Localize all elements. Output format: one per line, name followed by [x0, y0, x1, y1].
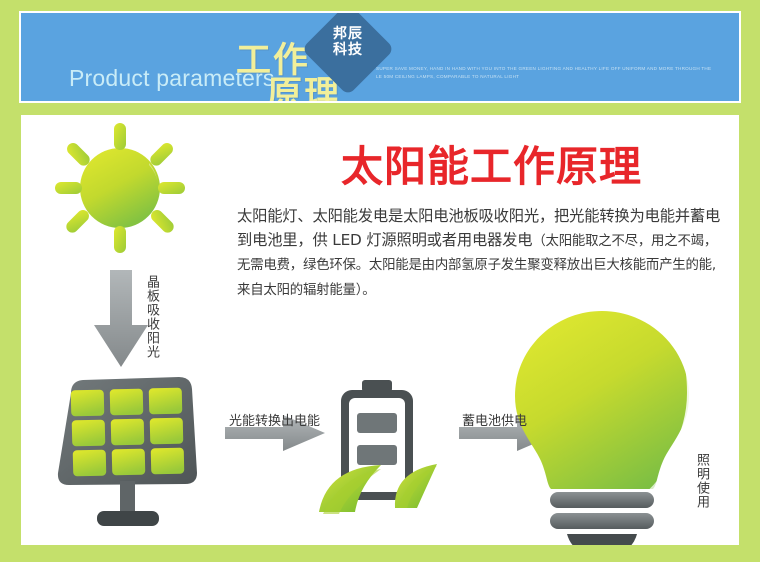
logo-text-line1: 邦辰: [318, 25, 378, 41]
solar-panel-icon: [58, 377, 197, 526]
header-tagline: SUPER SAVE MONEY, HAND IN HAND WITH YOU …: [376, 65, 716, 81]
light-bulb-icon: [515, 311, 696, 545]
arrow-down-icon: [94, 270, 148, 367]
header-blue-band: Product parameters 工作 原理 邦辰 科技 SUPER SAV…: [21, 13, 739, 101]
label-light-to-electric: 光能转换出电能: [229, 410, 320, 429]
main-content-card: 太阳能工作原理 太阳能灯、太阳能发电是太阳电池板吸收阳光，把光能转换为电能并蓄电…: [21, 115, 739, 545]
header-banner: Product parameters 工作 原理 邦辰 科技 SUPER SAV…: [16, 8, 744, 106]
sun-icon: [55, 123, 185, 253]
logo-text: 邦辰 科技: [318, 25, 378, 57]
page-root: Product parameters 工作 原理 邦辰 科技 SUPER SAV…: [0, 0, 760, 562]
description-paragraph: 太阳能灯、太阳能发电是太阳电池板吸收阳光，把光能转换为电能并蓄电到电池里，供 L…: [237, 205, 729, 302]
logo-text-line2: 科技: [318, 41, 378, 57]
page-title: 太阳能工作原理: [341, 133, 642, 194]
main-content-frame: 太阳能工作原理 太阳能灯、太阳能发电是太阳电池板吸收阳光，把光能转换为电能并蓄电…: [16, 110, 744, 550]
label-panel-absorbs-sunlight: 晶板吸收阳光: [144, 275, 159, 359]
label-battery-supplies-power: 蓄电池供电: [462, 410, 527, 429]
header-white-inset: Product parameters 工作 原理 邦辰 科技 SUPER SAV…: [19, 11, 741, 103]
label-lighting-use: 照明使用: [694, 453, 709, 509]
